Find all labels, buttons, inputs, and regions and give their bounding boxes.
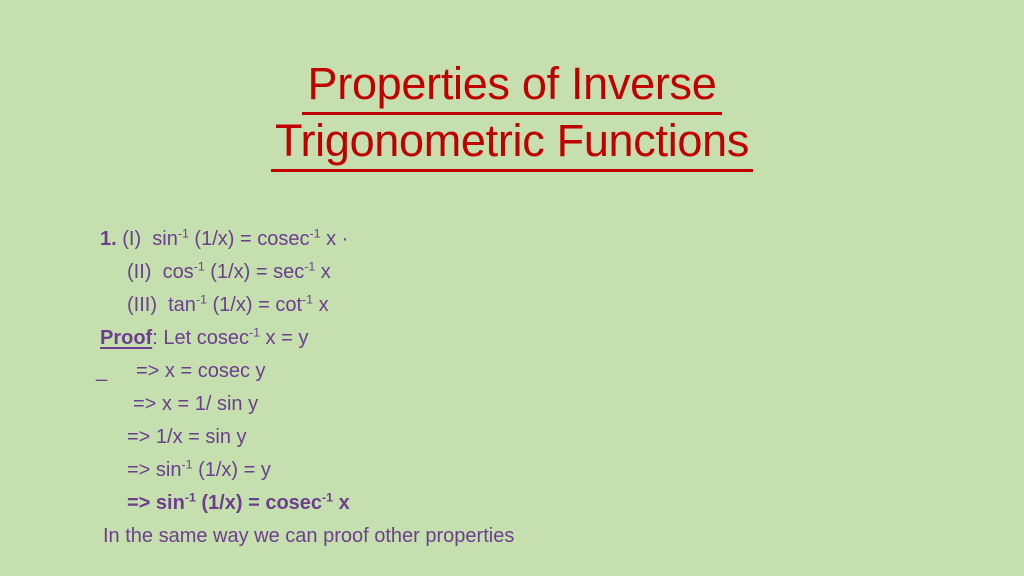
property-2-label: (II) <box>127 261 151 283</box>
footer-note-text: In the same way we can proof other prope… <box>103 520 514 553</box>
property-line-3: (III) tan-1 (1/x) = cot-1 x <box>0 289 1024 322</box>
proof-step-1-text: => x = cosec y <box>136 355 266 388</box>
footer-note: In the same way we can proof other prope… <box>0 520 1024 553</box>
property-2-lhs: cos <box>163 261 194 283</box>
property-1-exponent: -1 <box>178 226 189 240</box>
proof-step-2: => x = 1/ sin y <box>0 388 1024 421</box>
property-line-1: 1. (I) sin-1 (1/x) = cosec-1 x · <box>0 223 1024 256</box>
proof-conclusion-mid: (1/x) = cosec <box>196 492 322 514</box>
proof-label: Proof <box>100 327 152 349</box>
proof-exponent: -1 <box>249 325 260 339</box>
proof-step-3: => 1/x = sin y <box>0 421 1024 454</box>
proof-conclusion-pre: => sin <box>127 492 185 514</box>
title-line-2-text: Trigonometric Functions <box>271 115 753 172</box>
property-1-arg: (1/x) = cosec <box>189 228 310 250</box>
property-1-tail: x · <box>321 228 349 250</box>
property-1-lhs: sin <box>152 228 178 250</box>
proof-step-4: => sin-1 (1/x) = y <box>0 454 1024 487</box>
proof-step-1: _=> x = cosec y <box>0 355 1024 388</box>
property-3-arg: (1/x) = cot <box>207 294 302 316</box>
slide-body: 1. (I) sin-1 (1/x) = cosec-1 x · (II) co… <box>0 223 1024 553</box>
proof-conclusion: => sin-1 (1/x) = cosec-1 x <box>0 487 1024 520</box>
slide-canvas: Properties of Inverse Trigonometric Func… <box>0 0 1024 576</box>
property-1-rhs-exponent: -1 <box>309 226 320 240</box>
title-line-1: Properties of Inverse <box>0 58 1024 115</box>
proof-step-4-post: (1/x) = y <box>193 459 271 481</box>
proof-line: Proof: Let cosec-1 x = y <box>0 322 1024 355</box>
property-3-label: (III) <box>127 294 157 316</box>
proof-conclusion-exponent: -1 <box>185 490 196 504</box>
proof-step-4-exponent: -1 <box>181 457 192 471</box>
property-2-arg: (1/x) = sec <box>205 261 304 283</box>
stray-underscore-mark: _ <box>96 355 108 388</box>
proof-intro: : Let cosec <box>152 327 249 349</box>
proof-step-4-pre: => sin <box>127 459 181 481</box>
proof-step-2-text: => x = 1/ sin y <box>133 388 258 421</box>
property-2-rhs-exponent: -1 <box>304 259 315 273</box>
property-3-lhs: tan <box>168 294 196 316</box>
property-2-tail: x <box>315 261 331 283</box>
property-line-2: (II) cos-1 (1/x) = sec-1 x <box>0 256 1024 289</box>
property-3-rhs-exponent: -1 <box>302 292 313 306</box>
page-title: Properties of Inverse Trigonometric Func… <box>0 58 1024 172</box>
property-2-exponent: -1 <box>194 259 205 273</box>
title-line-1-text: Properties of Inverse <box>302 58 723 115</box>
proof-tail: x = y <box>260 327 308 349</box>
item-number: 1. <box>100 228 117 250</box>
property-1-label: (I) <box>122 228 141 250</box>
proof-conclusion-post: x <box>333 492 350 514</box>
property-3-tail: x <box>313 294 329 316</box>
title-line-2: Trigonometric Functions <box>0 115 1024 172</box>
property-3-exponent: -1 <box>196 292 207 306</box>
proof-step-3-text: => 1/x = sin y <box>127 421 247 454</box>
proof-conclusion-exponent-2: -1 <box>322 490 333 504</box>
